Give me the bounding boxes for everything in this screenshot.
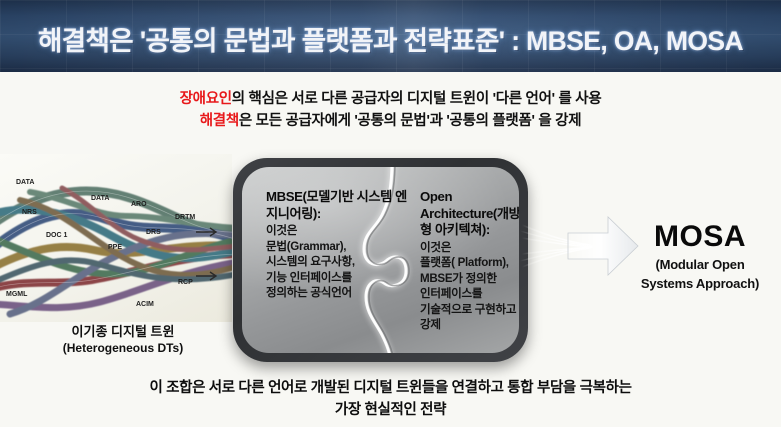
puzzle-right-body: 이것은 플랫폼( Platform), MBSE가 정의한 인터페이스를 기술적… xyxy=(420,240,519,333)
flow-arrow xyxy=(520,205,640,287)
subtitle-highlight-1: 장애요인 xyxy=(180,91,232,107)
net-label-8: ACIM xyxy=(136,301,154,308)
mosa-subtitle-2: Systems Approach) xyxy=(624,275,776,292)
subtitle-block: 장애요인의 핵심은 서로 다른 공급자의 디지털 트윈이 '다른 언어' 를 사… xyxy=(0,88,781,132)
mosa-block: MOSA (Modular Open Systems Approach) xyxy=(624,220,776,292)
data-streams-illustration: DATA DATA NRS DOC 1 ARO DRTM PPE RCP ACI… xyxy=(0,154,232,322)
mosa-subtitle-1: (Modular Open xyxy=(624,256,776,273)
net-label-1: DATA xyxy=(91,195,109,202)
bottom-caption-line-2: 가장 현실적인 전략 xyxy=(0,399,781,421)
puzzle-left-heading: MBSE(모델기반 시스템 엔지니어링): xyxy=(266,189,416,222)
left-caption-line-2: (Heterogeneous DTs) xyxy=(18,340,228,356)
puzzle-piece-left: MBSE(모델기반 시스템 엔지니어링): 이것은 문법(Grammar), 시… xyxy=(266,189,416,301)
puzzle-diagram: MBSE(모델기반 시스템 엔지니어링): 이것은 문법(Grammar), 시… xyxy=(233,158,528,362)
heterogeneous-data-streams-image: DATA DATA NRS DOC 1 ARO DRTM PPE RCP ACI… xyxy=(0,154,232,322)
puzzle-piece-right: Open Architecture(개방형 아키텍쳐): 이것은 플랫폼( Pl… xyxy=(420,189,519,333)
puzzle-inner-surface: MBSE(모델기반 시스템 엔지니어링): 이것은 문법(Grammar), 시… xyxy=(242,167,519,353)
page-title: 해결책은 '공통의 문법과 플랫폼과 전략표준' : MBSE, OA, MOS… xyxy=(0,19,781,58)
net-label-10: DRS xyxy=(146,229,161,236)
net-label-0: DATA xyxy=(16,179,34,186)
net-label-3: DOC 1 xyxy=(46,232,68,239)
net-label-2: NRS xyxy=(22,209,37,216)
subtitle-rest-1: 의 핵심은 서로 다른 공급자의 디지털 트윈이 '다른 언어' 를 사용 xyxy=(232,91,602,107)
net-label-7: RCP xyxy=(178,279,193,286)
header-banner: 해결책은 '공통의 문법과 플랫폼과 전략표준' : MBSE, OA, MOS… xyxy=(0,0,781,72)
net-label-5: DRTM xyxy=(175,214,195,221)
left-caption: 이기종 디지털 트윈 (Heterogeneous DTs) xyxy=(18,324,228,356)
bottom-caption: 이 조합은 서로 다른 언어로 개발된 디지털 트윈들을 연결하고 통합 부담을… xyxy=(0,377,781,421)
puzzle-left-body: 이것은 문법(Grammar), 시스템의 요구사항, 기능 인터페이스를 정의… xyxy=(266,223,416,301)
bottom-caption-line-1: 이 조합은 서로 다른 언어로 개발된 디지털 트윈들을 연결하고 통합 부담을… xyxy=(0,377,781,399)
net-label-9: MGML xyxy=(6,291,28,298)
arrow-right-icon xyxy=(520,205,640,287)
puzzle-right-heading: Open Architecture(개방형 아키텍쳐): xyxy=(420,189,519,239)
mosa-title: MOSA xyxy=(624,220,776,254)
subtitle-highlight-2: 해결책 xyxy=(200,113,239,129)
subtitle-line-1: 장애요인의 핵심은 서로 다른 공급자의 디지털 트윈이 '다른 언어' 를 사… xyxy=(0,88,781,110)
left-caption-line-1: 이기종 디지털 트윈 xyxy=(18,324,228,340)
net-label-6: PPE xyxy=(108,244,122,251)
net-label-4: ARO xyxy=(131,201,147,208)
subtitle-rest-2: 은 모든 공급자에게 '공통의 문법'과 '공통의 플랫폼' 을 강제 xyxy=(239,113,581,129)
subtitle-line-2: 해결책은 모든 공급자에게 '공통의 문법'과 '공통의 플랫폼' 을 강제 xyxy=(0,110,781,132)
